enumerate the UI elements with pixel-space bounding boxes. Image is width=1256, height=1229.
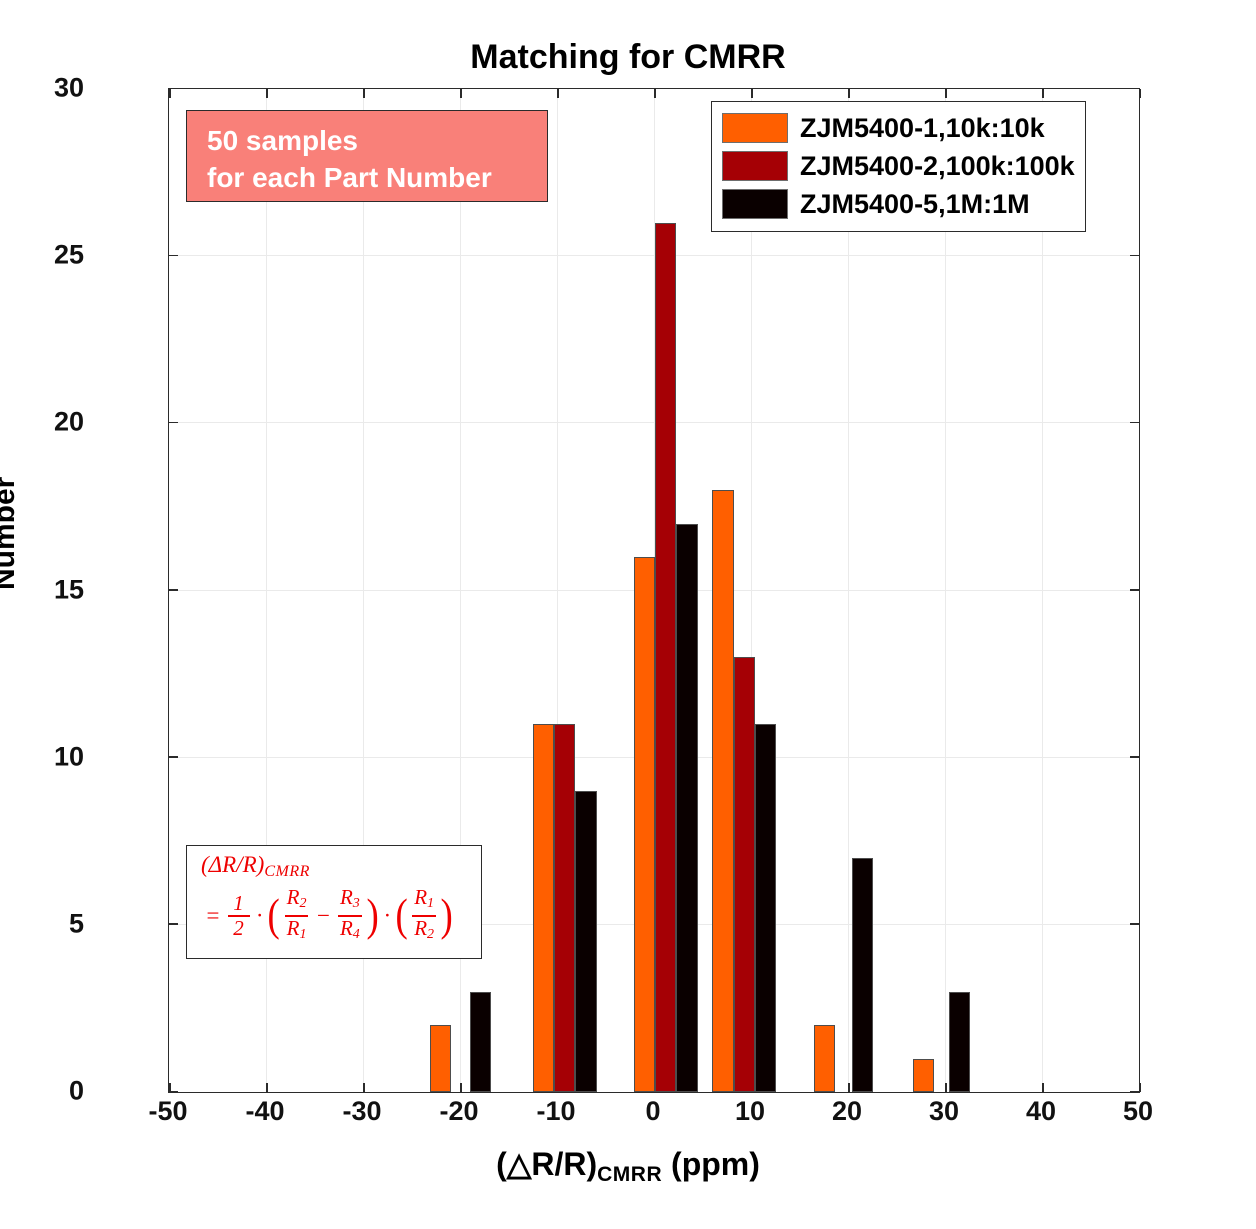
formula-r1r2-numerator: R1 xyxy=(412,888,436,913)
y-tick-mark xyxy=(169,923,178,925)
x-tick-mark xyxy=(1139,89,1141,98)
legend: ZJM5400-1,10k:10kZJM5400-2,100k:100kZJM5… xyxy=(711,101,1086,232)
y-tick-label: 15 xyxy=(54,574,84,605)
formula-half-denominator: 2 xyxy=(231,919,246,938)
x-tick-mark xyxy=(751,89,753,98)
x-tick-mark xyxy=(1042,1083,1044,1092)
bar xyxy=(712,490,733,1092)
x-tick-label: -10 xyxy=(536,1096,575,1127)
formula-r3r4-den-sub: 4 xyxy=(353,927,360,942)
legend-swatch xyxy=(722,113,788,143)
x-tick-mark xyxy=(1139,1083,1141,1092)
formula-r3r4-numerator: R3 xyxy=(338,888,362,913)
x-tick-mark xyxy=(1042,89,1044,98)
x-tick-mark xyxy=(848,1083,850,1092)
formula-fraction-r2r1: R2 R1 xyxy=(285,888,309,944)
legend-swatch xyxy=(722,151,788,181)
x-tick-label: -40 xyxy=(245,1096,284,1127)
bar xyxy=(655,223,676,1092)
x-tick-label: 30 xyxy=(929,1096,959,1127)
legend-label: ZJM5400-5,1M:1M xyxy=(800,189,1030,220)
formula-r2r1-den-sub: 1 xyxy=(299,927,306,942)
y-tick-mark xyxy=(1130,589,1139,591)
legend-item: ZJM5400-1,10k:10k xyxy=(722,109,1075,147)
formula-r2r1-num-sub: 2 xyxy=(299,896,306,911)
legend-label: ZJM5400-2,100k:100k xyxy=(800,151,1075,182)
x-axis-label: (△R/R)CMRR (ppm) xyxy=(0,1145,1256,1187)
gridline-vertical xyxy=(848,89,849,1092)
gridline-vertical xyxy=(945,89,946,1092)
bar xyxy=(470,992,491,1092)
y-tick-mark xyxy=(169,422,178,424)
bar xyxy=(634,557,655,1092)
x-tick-label: -50 xyxy=(148,1096,187,1127)
y-tick-label: 20 xyxy=(54,407,84,438)
formula-fraction-r1r2: R1 R2 xyxy=(412,888,436,944)
formula-rhs: = 1 2 · ( R2 R1 − R3 R4 ) · ( R1 xyxy=(201,888,481,944)
x-axis-label-main: (△R/R) xyxy=(496,1146,597,1182)
y-tick-label: 30 xyxy=(54,73,84,104)
x-tick-label: 50 xyxy=(1123,1096,1153,1127)
formula-r2r1-num-base: R xyxy=(287,885,300,909)
formula-r3r4-den-base: R xyxy=(340,916,353,940)
bar xyxy=(852,858,873,1092)
samples-annotation-line2: for each Part Number xyxy=(207,159,547,196)
x-axis-label-subscript: CMRR xyxy=(597,1163,662,1186)
formula-fraction-half: 1 2 xyxy=(228,894,250,938)
formula-equals: = xyxy=(201,903,225,929)
gridline-vertical xyxy=(1042,89,1043,1092)
samples-annotation: 50 samples for each Part Number xyxy=(186,110,548,202)
x-tick-label: 10 xyxy=(735,1096,765,1127)
y-tick-mark xyxy=(1130,756,1139,758)
bar xyxy=(575,791,596,1092)
formula-r1r2-den-base: R xyxy=(414,916,427,940)
x-tick-mark xyxy=(460,89,462,98)
formula-minus: − xyxy=(311,903,335,929)
y-tick-label: 0 xyxy=(69,1076,84,1107)
samples-annotation-line1: 50 samples xyxy=(207,122,547,159)
legend-item: ZJM5400-2,100k:100k xyxy=(722,147,1075,185)
bar xyxy=(554,724,575,1092)
formula-r1r2-num-sub: 1 xyxy=(427,896,434,911)
x-tick-mark xyxy=(169,89,171,98)
legend-label: ZJM5400-1,10k:10k xyxy=(800,113,1045,144)
x-tick-mark xyxy=(266,1083,268,1092)
x-tick-mark xyxy=(363,89,365,98)
formula-lparen-2: ( xyxy=(395,897,407,934)
formula-r3r4-num-sub: 3 xyxy=(353,896,360,911)
y-tick-mark xyxy=(1130,88,1139,90)
page-title: Matching for CMRR xyxy=(0,38,1256,77)
formula-r1r2-den-sub: 2 xyxy=(427,927,434,942)
bar xyxy=(430,1025,451,1092)
formula-r1r2-num-base: R xyxy=(414,885,427,909)
formula-r2r1-denominator: R1 xyxy=(285,919,309,944)
formula-annotation: (ΔR/R)CMRR = 1 2 · ( R2 R1 − R3 R4 ) xyxy=(186,845,482,959)
bar xyxy=(949,992,970,1092)
formula-rparen-2: ) xyxy=(441,897,453,934)
bar xyxy=(533,724,554,1092)
chart-figure: Matching for CMRR 051015202530 -50-40-30… xyxy=(0,0,1256,1229)
bar xyxy=(734,657,755,1092)
y-tick-label: 25 xyxy=(54,240,84,271)
x-tick-mark xyxy=(169,1083,171,1092)
x-tick-label: -20 xyxy=(439,1096,478,1127)
bar xyxy=(676,524,697,1092)
x-tick-label: 20 xyxy=(832,1096,862,1127)
y-tick-mark xyxy=(1130,1091,1139,1093)
formula-r3r4-denominator: R4 xyxy=(338,919,362,944)
formula-r2r1-numerator: R2 xyxy=(285,888,309,913)
formula-r3r4-num-base: R xyxy=(340,885,353,909)
bar xyxy=(755,724,776,1092)
formula-lhs-main: (ΔR/R) xyxy=(201,852,264,877)
x-tick-label: -30 xyxy=(342,1096,381,1127)
x-tick-mark xyxy=(848,89,850,98)
formula-fraction-r3r4: R3 R4 xyxy=(338,888,362,944)
y-tick-mark xyxy=(169,589,178,591)
formula-r2r1-den-base: R xyxy=(287,916,300,940)
y-tick-mark xyxy=(1130,255,1139,257)
x-tick-mark xyxy=(654,89,656,98)
bar xyxy=(913,1059,934,1092)
y-tick-label: 5 xyxy=(69,908,84,939)
x-tick-mark xyxy=(945,89,947,98)
legend-swatch xyxy=(722,189,788,219)
y-tick-label: 10 xyxy=(54,741,84,772)
y-axis-label: Number xyxy=(0,477,22,590)
formula-half-numerator: 1 xyxy=(231,894,246,913)
formula-lhs-subscript: CMRR xyxy=(264,863,310,880)
formula-rparen-1: ) xyxy=(366,897,378,934)
x-tick-mark xyxy=(363,1083,365,1092)
y-tick-mark xyxy=(1130,923,1139,925)
y-tick-mark xyxy=(169,756,178,758)
formula-r1r2-denominator: R2 xyxy=(412,919,436,944)
formula-dot-2: · xyxy=(380,903,394,929)
formula-dot-1: · xyxy=(253,903,267,929)
x-tick-mark xyxy=(557,89,559,98)
x-tick-mark xyxy=(266,89,268,98)
x-tick-label: 0 xyxy=(645,1096,660,1127)
x-tick-mark xyxy=(945,1083,947,1092)
legend-item: ZJM5400-5,1M:1M xyxy=(722,185,1075,223)
x-tick-label: 40 xyxy=(1026,1096,1056,1127)
formula-lparen-1: ( xyxy=(268,897,280,934)
y-tick-mark xyxy=(169,255,178,257)
x-axis-label-unit: (ppm) xyxy=(671,1146,760,1182)
bar xyxy=(814,1025,835,1092)
formula-lhs: (ΔR/R)CMRR xyxy=(201,852,481,881)
x-tick-mark xyxy=(460,1083,462,1092)
y-tick-mark xyxy=(1130,422,1139,424)
